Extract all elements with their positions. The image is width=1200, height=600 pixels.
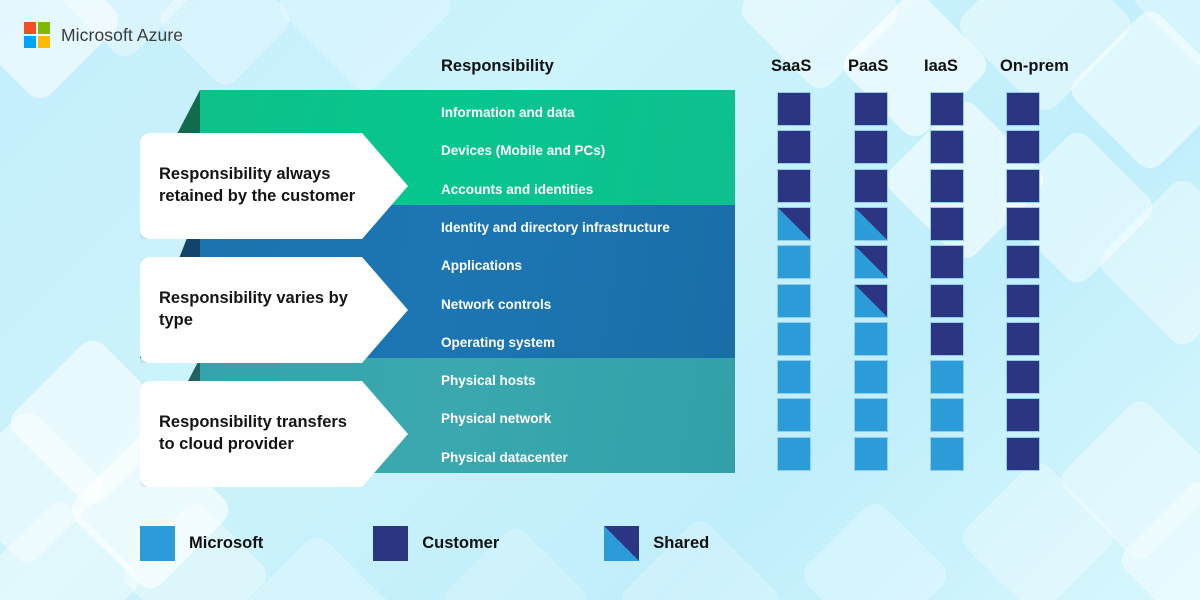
legend-swatch-microsoft — [140, 526, 175, 561]
logo-square-yellow — [38, 36, 50, 48]
matrix-cell-customer — [854, 92, 888, 126]
matrix-cell-customer — [930, 169, 964, 203]
legend-swatch-customer — [373, 526, 408, 561]
matrix-cell-customer — [854, 169, 888, 203]
matrix-cell-shared — [854, 245, 888, 279]
column-header-on-prem: On-prem — [1000, 57, 1069, 76]
legend: MicrosoftCustomerShared — [140, 526, 709, 561]
matrix-cell-microsoft — [854, 360, 888, 394]
row-label: Network controls — [441, 297, 551, 312]
legend-label: Customer — [422, 534, 499, 553]
logo-square-red — [24, 22, 36, 34]
matrix-cell-microsoft — [777, 437, 811, 471]
matrix-cell-customer — [1006, 398, 1040, 432]
row-label: Physical hosts — [441, 373, 536, 388]
row-label: Operating system — [441, 335, 555, 350]
decorative-diamond — [797, 497, 953, 600]
matrix-cell-customer — [1006, 360, 1040, 394]
matrix-cell-customer — [930, 322, 964, 356]
column-header-iaas: IaaS — [924, 57, 958, 76]
legend-label: Microsoft — [189, 534, 263, 553]
matrix-cell-customer — [930, 130, 964, 164]
matrix-cell-customer — [1006, 437, 1040, 471]
matrix-cell-customer — [1006, 284, 1040, 318]
matrix-cell-customer — [930, 207, 964, 241]
callout-text: Responsibility always retained by the cu… — [140, 164, 408, 208]
legend-label: Shared — [653, 534, 709, 553]
matrix-cell-shared — [777, 207, 811, 241]
matrix-cell-microsoft — [777, 245, 811, 279]
legend-item-customer: Customer — [373, 526, 499, 561]
row-label: Information and data — [441, 105, 575, 120]
logo-square-blue — [24, 36, 36, 48]
matrix-cell-customer — [930, 92, 964, 126]
row-label: Devices (Mobile and PCs) — [441, 143, 605, 158]
row-label: Physical network — [441, 411, 551, 426]
matrix-cell-customer — [854, 130, 888, 164]
callout-2: Responsibility varies by type — [140, 257, 408, 363]
matrix-cell-customer — [930, 284, 964, 318]
matrix-cell-shared — [854, 207, 888, 241]
matrix-cell-customer — [1006, 92, 1040, 126]
matrix-cell-customer — [777, 169, 811, 203]
microsoft-logo-icon — [24, 22, 50, 48]
column-header-saas: SaaS — [771, 57, 811, 76]
callout-1: Responsibility always retained by the cu… — [140, 133, 408, 239]
matrix-cell-customer — [777, 130, 811, 164]
matrix-cell-microsoft — [854, 437, 888, 471]
logo-square-green — [38, 22, 50, 34]
legend-item-shared: Shared — [604, 526, 709, 561]
matrix-cell-customer — [930, 245, 964, 279]
matrix-cell-microsoft — [777, 284, 811, 318]
matrix-cell-customer — [1006, 130, 1040, 164]
row-label: Applications — [441, 258, 522, 273]
matrix-cell-microsoft — [777, 322, 811, 356]
matrix-cell-customer — [777, 92, 811, 126]
row-label: Accounts and identities — [441, 182, 593, 197]
column-header-paas: PaaS — [848, 57, 888, 76]
matrix-cell-shared — [854, 284, 888, 318]
matrix-cell-customer — [1006, 245, 1040, 279]
callout-text: Responsibility varies by type — [140, 288, 408, 332]
callout-text: Responsibility transfers to cloud provid… — [140, 412, 408, 456]
matrix-cell-customer — [1006, 169, 1040, 203]
callout-3: Responsibility transfers to cloud provid… — [140, 381, 408, 487]
matrix-cell-microsoft — [777, 360, 811, 394]
legend-swatch-shared — [604, 526, 639, 561]
matrix-cell-microsoft — [854, 398, 888, 432]
row-label: Physical datacenter — [441, 450, 568, 465]
matrix-cell-microsoft — [930, 437, 964, 471]
matrix-cell-microsoft — [854, 322, 888, 356]
matrix-cell-customer — [1006, 322, 1040, 356]
row-label: Identity and directory infrastructure — [441, 220, 670, 235]
matrix-cell-microsoft — [930, 360, 964, 394]
matrix-cell-customer — [1006, 207, 1040, 241]
legend-item-microsoft: Microsoft — [140, 526, 263, 561]
matrix-cell-microsoft — [930, 398, 964, 432]
responsibility-column-header: Responsibility — [441, 57, 554, 76]
matrix-cell-microsoft — [777, 398, 811, 432]
